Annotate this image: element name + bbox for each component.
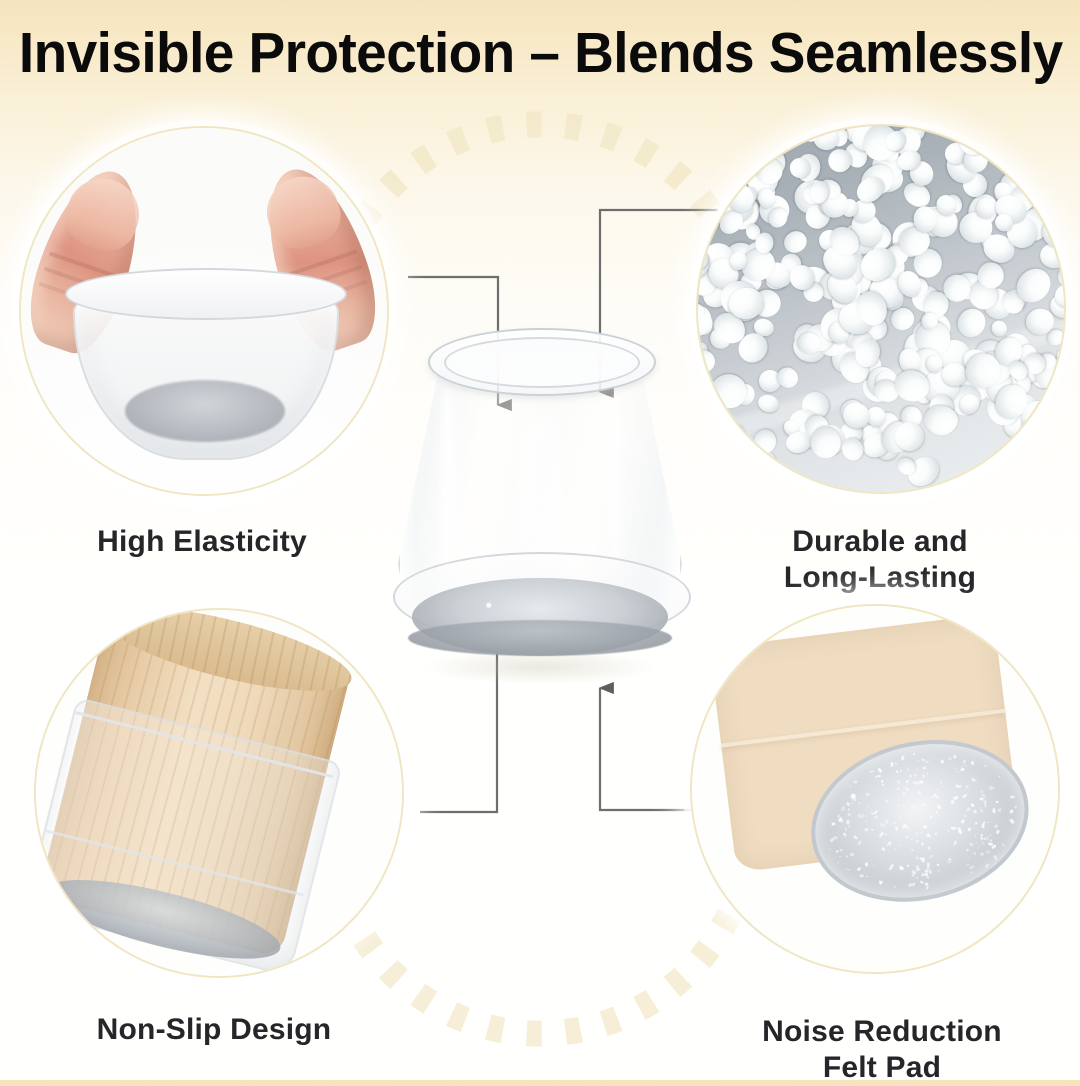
felt-fleck bbox=[898, 816, 902, 820]
felt-fleck bbox=[965, 784, 968, 788]
felt-fleck bbox=[936, 756, 938, 759]
felt-fleck bbox=[891, 777, 893, 779]
felt-fleck bbox=[849, 786, 851, 788]
felt-fleck bbox=[970, 871, 973, 873]
feature-label-line-2: Felt Pad bbox=[700, 1050, 1064, 1086]
felt-fleck bbox=[906, 768, 909, 772]
felt-fleck bbox=[858, 801, 860, 803]
felt-fleck bbox=[971, 803, 976, 807]
feature-label-line-1: Durable and bbox=[700, 524, 1060, 560]
felt-fleck bbox=[965, 848, 969, 852]
felt-fleck bbox=[859, 875, 863, 878]
felt-fleck bbox=[911, 849, 914, 852]
felt-fleck bbox=[929, 855, 934, 859]
felt-fleck bbox=[865, 828, 869, 831]
felt-fleck bbox=[850, 852, 855, 856]
decorative-dashed-arc-top bbox=[340, 108, 740, 258]
felt-fleck bbox=[915, 840, 919, 844]
pellet bbox=[1050, 124, 1066, 156]
felt-fleck bbox=[911, 838, 913, 840]
felt-fleck bbox=[994, 824, 999, 829]
felt-fleck bbox=[898, 787, 901, 790]
center-product-silicone-cap bbox=[368, 320, 712, 720]
felt-fleck bbox=[890, 762, 894, 767]
felt-fleck bbox=[981, 842, 983, 844]
felt-fleck bbox=[999, 830, 1001, 832]
felt-fleck bbox=[969, 865, 975, 870]
felt-fleck bbox=[927, 773, 929, 775]
felt-fleck bbox=[983, 821, 985, 824]
felt-fleck bbox=[960, 768, 965, 772]
felt-fleck bbox=[918, 791, 922, 796]
photo-silicone-pellets bbox=[698, 126, 1064, 492]
feature-label-line-1: Noise Reduction bbox=[700, 1014, 1064, 1050]
felt-fleck bbox=[894, 886, 896, 888]
felt-fleck bbox=[977, 847, 979, 849]
felt-fleck bbox=[908, 883, 913, 888]
felt-fleck bbox=[936, 789, 938, 791]
felt-fleck bbox=[927, 863, 930, 868]
felt-fleck bbox=[838, 855, 840, 857]
felt-fleck bbox=[908, 774, 912, 778]
felt-fleck bbox=[919, 880, 923, 884]
felt-fleck bbox=[927, 846, 930, 850]
feature-image-noise-reduction-felt-pad bbox=[690, 604, 1060, 974]
felt-fleck bbox=[915, 781, 920, 785]
felt-fleck bbox=[848, 813, 852, 816]
felt-fleck bbox=[882, 780, 884, 783]
felt-fleck bbox=[980, 809, 983, 812]
felt-fleck bbox=[1009, 809, 1014, 814]
pellet bbox=[1056, 434, 1066, 456]
felt-fleck bbox=[985, 850, 990, 854]
felt-fleck bbox=[1010, 795, 1015, 798]
felt-fleck bbox=[907, 801, 910, 804]
felt-fleck bbox=[873, 815, 878, 820]
felt-fleck bbox=[906, 835, 909, 838]
felt-fleck bbox=[947, 757, 952, 761]
felt-fleck bbox=[853, 780, 857, 783]
felt-fleck bbox=[998, 776, 1000, 778]
page-title: Invisible Protection – Blends Seamlessly bbox=[19, 24, 1061, 84]
felt-fleck bbox=[885, 834, 887, 836]
felt-fleck bbox=[920, 831, 923, 834]
felt-fleck bbox=[940, 782, 943, 784]
felt-fleck bbox=[896, 780, 901, 785]
feature-label-high-elasticity: High Elasticity bbox=[22, 524, 382, 560]
felt-fleck bbox=[848, 808, 850, 811]
pellet bbox=[986, 451, 1022, 484]
felt-fleck bbox=[926, 874, 931, 879]
felt-fleck bbox=[888, 867, 892, 870]
felt-fleck bbox=[872, 864, 874, 866]
felt-fleck bbox=[912, 805, 914, 807]
felt-fleck bbox=[925, 761, 929, 764]
felt-fleck bbox=[915, 832, 918, 834]
felt-fleck bbox=[905, 787, 910, 791]
felt-fleck bbox=[915, 876, 918, 879]
felt-fleck bbox=[918, 761, 920, 762]
felt-fleck bbox=[857, 867, 862, 872]
felt-fleck bbox=[979, 852, 984, 856]
felt-fleck bbox=[937, 870, 940, 873]
felt-fleck bbox=[885, 843, 889, 847]
felt-fleck bbox=[892, 821, 897, 825]
felt-fleck bbox=[992, 808, 996, 813]
felt-fleck bbox=[829, 848, 832, 851]
felt-fleck bbox=[983, 837, 985, 840]
photo-felt-pad-underside bbox=[692, 606, 1058, 972]
felt-fleck bbox=[958, 772, 960, 773]
felt-fleck bbox=[972, 809, 977, 814]
felt-fleck bbox=[874, 813, 876, 815]
felt-fleck bbox=[956, 875, 958, 877]
felt-fleck bbox=[987, 822, 989, 824]
felt-fleck bbox=[947, 829, 950, 832]
felt-fleck bbox=[963, 816, 966, 819]
felt-fleck bbox=[929, 802, 931, 804]
felt-fleck bbox=[914, 825, 916, 827]
felt-fleck bbox=[886, 801, 888, 803]
felt-fleck bbox=[907, 863, 910, 866]
felt-fleck bbox=[936, 863, 940, 867]
felt-fleck bbox=[961, 819, 965, 824]
felt-fleck bbox=[898, 845, 900, 847]
felt-fleck bbox=[928, 869, 932, 875]
felt-fleck bbox=[894, 848, 896, 850]
felt-fleck bbox=[969, 842, 973, 846]
felt-fleck bbox=[926, 886, 929, 889]
felt-fleck bbox=[941, 759, 945, 764]
felt-fleck bbox=[882, 783, 884, 786]
felt-fleck bbox=[913, 753, 915, 756]
felt-fleck bbox=[964, 765, 966, 766]
felt-fleck bbox=[992, 787, 995, 789]
felt-fleck bbox=[865, 862, 868, 866]
cap-rim-inner bbox=[444, 337, 640, 388]
felt-fleck bbox=[971, 777, 975, 782]
felt-fleck bbox=[936, 804, 941, 810]
felt-fleck bbox=[866, 793, 870, 796]
felt-fleck bbox=[845, 828, 847, 831]
felt-fleck bbox=[966, 807, 972, 812]
felt-fleck bbox=[988, 834, 990, 836]
pellet bbox=[781, 227, 811, 257]
feature-label-line-2: Long-Lasting bbox=[700, 560, 1060, 596]
felt-fleck bbox=[922, 766, 927, 770]
felt-fleck bbox=[846, 802, 851, 807]
felt-fleck bbox=[956, 772, 958, 773]
felt-fleck bbox=[953, 796, 958, 801]
felt-fleck bbox=[916, 769, 918, 770]
felt-fleck bbox=[968, 857, 970, 859]
felt-fleck bbox=[970, 761, 973, 766]
felt-fleck bbox=[975, 822, 978, 825]
felt-fleck bbox=[889, 841, 893, 845]
felt-fleck bbox=[831, 822, 836, 826]
felt-fleck bbox=[877, 775, 881, 778]
stretched-cap-felt bbox=[125, 380, 285, 442]
felt-fleck bbox=[886, 819, 889, 823]
felt-fleck bbox=[877, 767, 882, 773]
felt-fleck bbox=[913, 774, 918, 778]
felt-fleck bbox=[882, 847, 887, 852]
felt-fleck bbox=[984, 764, 988, 767]
felt-fleck bbox=[866, 805, 869, 808]
felt-fleck bbox=[954, 755, 957, 759]
felt-fleck bbox=[962, 759, 966, 764]
wood-chair-leg bbox=[37, 608, 352, 958]
felt-fleck bbox=[921, 804, 923, 806]
felt-fleck bbox=[935, 832, 937, 835]
felt-fleck bbox=[935, 795, 940, 800]
felt-fleck bbox=[992, 844, 998, 849]
felt-fleck bbox=[983, 799, 987, 804]
felt-fleck bbox=[954, 767, 956, 769]
felt-fleck bbox=[984, 863, 989, 869]
wood-chair-leg-tilted bbox=[709, 613, 1020, 872]
felt-fleck bbox=[871, 828, 875, 832]
feature-image-non-slip-design bbox=[34, 608, 404, 978]
pellet bbox=[811, 427, 841, 458]
felt-fleck bbox=[974, 834, 976, 836]
felt-fleck bbox=[858, 840, 863, 846]
felt-fleck bbox=[957, 785, 962, 789]
photo-wood-leg-with-cap bbox=[36, 610, 402, 976]
pellet bbox=[696, 215, 713, 241]
felt-fleck bbox=[837, 861, 840, 863]
feature-image-high-elasticity bbox=[19, 126, 389, 496]
felt-fleck bbox=[903, 805, 905, 808]
felt-fleck bbox=[851, 802, 853, 804]
felt-fleck bbox=[935, 810, 937, 813]
felt-fleck bbox=[922, 774, 926, 778]
felt-fleck bbox=[997, 808, 1002, 813]
felt-fleck bbox=[967, 827, 972, 832]
felt-fleck bbox=[910, 819, 913, 821]
photo-thumbs-stretching-cap bbox=[21, 128, 387, 494]
felt-fleck bbox=[996, 800, 999, 803]
felt-fleck bbox=[844, 855, 848, 858]
feature-label-non-slip-design: Non-Slip Design bbox=[28, 1012, 400, 1048]
felt-fleck bbox=[906, 828, 910, 832]
felt-fleck bbox=[974, 852, 976, 855]
felt-fleck bbox=[902, 792, 905, 796]
pellet bbox=[978, 261, 1005, 289]
felt-fleck bbox=[1014, 805, 1017, 809]
felt-fleck bbox=[897, 804, 900, 807]
felt-fleck bbox=[869, 770, 873, 773]
feature-image-durable-long-lasting bbox=[696, 124, 1066, 494]
felt-fleck bbox=[923, 826, 927, 830]
felt-fleck bbox=[922, 857, 925, 862]
feature-label-noise-reduction-felt-pad: Noise Reduction Felt Pad bbox=[700, 1014, 1064, 1086]
felt-fleck bbox=[930, 816, 933, 820]
felt-fleck bbox=[899, 769, 902, 773]
felt-fleck bbox=[864, 820, 867, 823]
felt-fleck bbox=[840, 849, 843, 852]
felt-fleck bbox=[852, 798, 856, 801]
felt-fleck bbox=[975, 841, 977, 843]
felt-fleck bbox=[857, 813, 861, 818]
felt-fleck bbox=[895, 827, 898, 831]
felt-fleck bbox=[1001, 842, 1005, 846]
felt-fleck bbox=[895, 770, 898, 774]
felt-fleck bbox=[921, 842, 924, 845]
felt-fleck bbox=[852, 834, 858, 839]
felt-fleck bbox=[847, 824, 850, 828]
felt-fleck bbox=[993, 854, 998, 860]
feature-label-durable-long-lasting: Durable and Long-Lasting bbox=[700, 524, 1060, 596]
stretched-cap-rim bbox=[65, 268, 347, 320]
felt-fleck bbox=[901, 755, 906, 761]
felt-fleck bbox=[884, 826, 886, 828]
felt-fleck bbox=[866, 876, 868, 878]
cap-drop-shadow bbox=[426, 650, 654, 684]
felt-fleck bbox=[836, 849, 840, 853]
felt-fleck bbox=[954, 841, 957, 843]
felt-fleck bbox=[894, 762, 898, 766]
